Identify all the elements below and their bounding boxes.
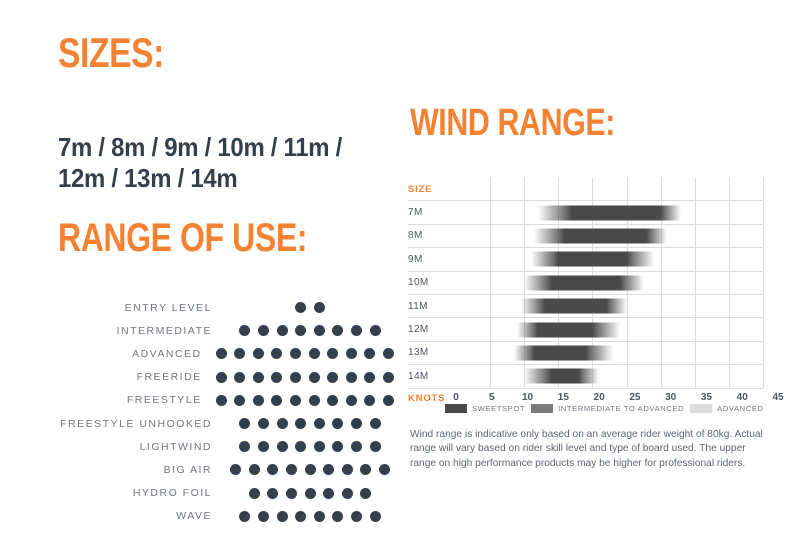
chart-gridline bbox=[627, 365, 628, 387]
range-of-use-row-label: WAVE bbox=[20, 510, 226, 522]
range-of-use-row-label: BIG AIR bbox=[20, 464, 226, 476]
chart-row-label: 9M bbox=[408, 254, 456, 265]
rating-dot bbox=[258, 511, 269, 522]
wind-range-bar bbox=[524, 275, 643, 290]
range-of-use-row-label: HYDRO FOIL bbox=[20, 487, 226, 499]
rating-dot bbox=[295, 418, 306, 429]
range-of-use-row: LIGHTWIND bbox=[20, 435, 400, 458]
chart-gridline bbox=[695, 178, 696, 200]
range-of-use-row: FREERIDE bbox=[20, 366, 400, 389]
rating-dot bbox=[346, 348, 357, 359]
rating-dot bbox=[271, 372, 282, 383]
wind-range-bar bbox=[524, 369, 599, 384]
range-of-use-row: WAVE bbox=[20, 505, 400, 528]
chart-gridline bbox=[490, 178, 491, 200]
rating-dot bbox=[332, 511, 343, 522]
rating-dot bbox=[379, 464, 390, 475]
rating-dot bbox=[332, 441, 343, 452]
wind-range-bar bbox=[517, 322, 619, 337]
rating-dot bbox=[295, 302, 306, 313]
chart-gridline bbox=[490, 342, 491, 364]
legend-label: SWEETSPOT bbox=[472, 404, 525, 413]
chart-row: 12M bbox=[408, 318, 763, 341]
chart-gridline bbox=[763, 201, 764, 223]
x-axis-tick: 25 bbox=[629, 392, 640, 403]
chart-gridline bbox=[661, 342, 662, 364]
chart-gridline bbox=[729, 272, 730, 294]
rating-dot bbox=[370, 325, 381, 336]
chart-gridline bbox=[661, 295, 662, 317]
rating-dot bbox=[351, 511, 362, 522]
rating-dot bbox=[314, 441, 325, 452]
range-of-use-row: ENTRY LEVEL bbox=[20, 296, 400, 319]
chart-row-label: 12M bbox=[408, 324, 456, 335]
chart-gridline bbox=[695, 248, 696, 270]
chart-gridline bbox=[558, 178, 559, 200]
chart-row-label: 10M bbox=[408, 277, 456, 288]
range-of-use-row-label: ADVANCED bbox=[20, 348, 216, 360]
chart-gridline bbox=[490, 248, 491, 270]
rating-dot bbox=[216, 395, 227, 406]
legend-label: ADVANCED bbox=[717, 404, 763, 413]
x-axis-tick: 35 bbox=[701, 392, 712, 403]
rating-dot bbox=[295, 325, 306, 336]
legend-swatch bbox=[445, 404, 467, 413]
rating-dot bbox=[364, 372, 375, 383]
range-of-use-row: ADVANCED bbox=[20, 342, 400, 365]
x-axis-tick: 5 bbox=[489, 392, 495, 403]
rating-dot bbox=[295, 511, 306, 522]
range-of-use-row-label: ENTRY LEVEL bbox=[20, 302, 226, 314]
rating-dot bbox=[370, 418, 381, 429]
rating-dot bbox=[234, 348, 245, 359]
wind-range-bar bbox=[534, 228, 667, 243]
left-column: SIZES: 7m / 8m / 9m / 10m / 11m / 12m / … bbox=[0, 0, 400, 544]
rating-dot bbox=[249, 464, 260, 475]
rating-dot bbox=[267, 488, 278, 499]
rating-dot bbox=[342, 488, 353, 499]
range-of-use-row-dots bbox=[216, 372, 400, 383]
chart-gridline bbox=[627, 295, 628, 317]
rating-dot bbox=[327, 348, 338, 359]
rating-dot bbox=[277, 418, 288, 429]
rating-dot bbox=[271, 348, 282, 359]
rating-dot bbox=[249, 488, 260, 499]
chart-gridline bbox=[490, 365, 491, 387]
chart-header-row: SIZE bbox=[408, 178, 763, 201]
chart-gridline bbox=[763, 272, 764, 294]
sizes-heading: SIZES: bbox=[58, 32, 164, 74]
chart-gridline bbox=[763, 365, 764, 387]
rating-dot bbox=[290, 372, 301, 383]
chart-row: 9M bbox=[408, 248, 763, 271]
chart-gridline bbox=[661, 365, 662, 387]
chart-gridline bbox=[729, 318, 730, 340]
chart-gridline bbox=[763, 225, 764, 247]
range-of-use-row-dots bbox=[226, 325, 400, 336]
range-of-use-row-dots bbox=[226, 302, 400, 313]
x-axis-tick: 0 bbox=[453, 392, 459, 403]
chart-legend: SWEETSPOTINTERMEDIATE TO ADVANCEDADVANCE… bbox=[445, 404, 795, 413]
rating-dot bbox=[239, 511, 250, 522]
x-axis-tick: 20 bbox=[594, 392, 605, 403]
range-of-use-row-label: LIGHTWIND bbox=[20, 441, 226, 453]
rating-dot bbox=[216, 372, 227, 383]
chart-row: 8M bbox=[408, 225, 763, 248]
chart-gridline bbox=[661, 318, 662, 340]
x-axis-tick: 15 bbox=[558, 392, 569, 403]
chart-row: 7M bbox=[408, 201, 763, 224]
range-of-use-row: BIG AIR bbox=[20, 458, 400, 481]
chart-gridline bbox=[763, 178, 764, 200]
x-axis-tick: 10 bbox=[522, 392, 533, 403]
rating-dot bbox=[327, 395, 338, 406]
wind-range-bar bbox=[538, 205, 681, 220]
range-of-use-row-dots bbox=[226, 488, 400, 499]
wind-range-chart: SIZE7M8M9M10M11M12M13M14M KNOTS 05101520… bbox=[408, 178, 778, 409]
chart-gridline bbox=[729, 178, 730, 200]
rating-dot bbox=[360, 488, 371, 499]
chart-gridline bbox=[729, 365, 730, 387]
size-column-header: SIZE bbox=[408, 184, 456, 195]
rating-dot bbox=[216, 348, 227, 359]
chart-gridline bbox=[524, 201, 525, 223]
rating-dot bbox=[370, 511, 381, 522]
rating-dot bbox=[314, 418, 325, 429]
chart-gridline bbox=[524, 225, 525, 247]
legend-label: INTERMEDIATE TO ADVANCED bbox=[558, 404, 684, 413]
rating-dot bbox=[314, 511, 325, 522]
rating-dot bbox=[267, 464, 278, 475]
chart-gridline bbox=[627, 178, 628, 200]
range-of-use-row-dots bbox=[226, 511, 400, 522]
rating-dot bbox=[351, 441, 362, 452]
rating-dot bbox=[258, 441, 269, 452]
chart-gridline bbox=[763, 342, 764, 364]
rating-dot bbox=[239, 418, 250, 429]
rating-dot bbox=[351, 418, 362, 429]
chart-gridline bbox=[661, 272, 662, 294]
rating-dot bbox=[309, 348, 320, 359]
rating-dot bbox=[253, 395, 264, 406]
rating-dot bbox=[332, 325, 343, 336]
rating-dot bbox=[309, 372, 320, 383]
rating-dot bbox=[383, 395, 394, 406]
chart-row-label: 8M bbox=[408, 230, 456, 241]
chart-gridline bbox=[695, 272, 696, 294]
x-axis-tick: 30 bbox=[665, 392, 676, 403]
chart-gridline bbox=[729, 201, 730, 223]
rating-dot bbox=[239, 325, 250, 336]
wind-range-bar bbox=[521, 299, 627, 314]
chart-gridline bbox=[763, 248, 764, 270]
rating-dot bbox=[258, 325, 269, 336]
rating-dot bbox=[351, 325, 362, 336]
rating-dot bbox=[253, 372, 264, 383]
chart-gridline bbox=[729, 225, 730, 247]
rating-dot bbox=[295, 441, 306, 452]
range-of-use-row-dots bbox=[226, 418, 400, 429]
chart-gridline bbox=[524, 248, 525, 270]
rating-dot bbox=[383, 348, 394, 359]
chart-gridline bbox=[490, 272, 491, 294]
range-of-use-row: FREESTYLE bbox=[20, 389, 400, 412]
range-of-use-row-dots bbox=[226, 464, 400, 475]
chart-gridline bbox=[524, 178, 525, 200]
rating-dot bbox=[314, 325, 325, 336]
chart-gridline bbox=[729, 342, 730, 364]
chart-row: 11M bbox=[408, 295, 763, 318]
chart-gridline bbox=[695, 201, 696, 223]
sizes-list: 7m / 8m / 9m / 10m / 11m / 12m / 13m / 1… bbox=[58, 132, 362, 193]
chart-gridline bbox=[592, 178, 593, 200]
chart-gridline bbox=[695, 342, 696, 364]
chart-row: 13M bbox=[408, 342, 763, 365]
wind-range-bar bbox=[514, 345, 613, 360]
chart-gridline bbox=[661, 248, 662, 270]
rating-dot bbox=[305, 488, 316, 499]
chart-gridline bbox=[763, 295, 764, 317]
rating-dot bbox=[286, 464, 297, 475]
range-of-use-matrix: ENTRY LEVELINTERMEDIATEADVANCEDFREERIDEF… bbox=[20, 296, 400, 528]
rating-dot bbox=[234, 372, 245, 383]
range-of-use-row-dots bbox=[216, 395, 400, 406]
rating-dot bbox=[258, 418, 269, 429]
chart-gridline bbox=[627, 318, 628, 340]
chart-gridline bbox=[729, 295, 730, 317]
wind-range-heading: WIND RANGE: bbox=[410, 104, 615, 142]
x-axis-tick: 45 bbox=[772, 392, 783, 403]
chart-row-label: 14M bbox=[408, 371, 456, 382]
range-of-use-row-label: FREESTYLE bbox=[20, 394, 216, 406]
rating-dot bbox=[346, 395, 357, 406]
rating-dot bbox=[346, 372, 357, 383]
legend-item: SWEETSPOT bbox=[445, 404, 525, 413]
rating-dot bbox=[305, 464, 316, 475]
wind-range-footnote: Wind range is indicative only based on a… bbox=[410, 428, 772, 471]
chart-row-label: 11M bbox=[408, 301, 456, 312]
range-of-use-row-label: FREERIDE bbox=[20, 371, 216, 383]
chart-gridline bbox=[695, 225, 696, 247]
rating-dot bbox=[253, 348, 264, 359]
x-axis-tick: 40 bbox=[737, 392, 748, 403]
range-of-use-row-dots bbox=[216, 348, 400, 359]
legend-item: INTERMEDIATE TO ADVANCED bbox=[531, 404, 684, 413]
rating-dot bbox=[234, 395, 245, 406]
chart-row-label: 13M bbox=[408, 347, 456, 358]
rating-dot bbox=[271, 395, 282, 406]
range-of-use-row: HYDRO FOIL bbox=[20, 482, 400, 505]
chart-gridline bbox=[627, 342, 628, 364]
chart-gridline bbox=[490, 318, 491, 340]
rating-dot bbox=[277, 511, 288, 522]
range-of-use-row-dots bbox=[226, 441, 400, 452]
chart-gridline bbox=[490, 225, 491, 247]
chart-gridline bbox=[490, 295, 491, 317]
rating-dot bbox=[230, 464, 241, 475]
chart-gridline bbox=[695, 295, 696, 317]
range-of-use-heading: RANGE OF USE: bbox=[58, 218, 307, 258]
chart-gridline bbox=[490, 201, 491, 223]
rating-dot bbox=[286, 488, 297, 499]
rating-dot bbox=[364, 348, 375, 359]
rating-dot bbox=[309, 395, 320, 406]
legend-swatch bbox=[690, 404, 712, 413]
range-of-use-row: FREESTYLE UNHOOKED bbox=[20, 412, 400, 435]
rating-dot bbox=[360, 464, 371, 475]
rating-dot bbox=[277, 325, 288, 336]
rating-dot bbox=[314, 302, 325, 313]
chart-gridline bbox=[661, 178, 662, 200]
rating-dot bbox=[332, 418, 343, 429]
rating-dot bbox=[342, 464, 353, 475]
rating-dot bbox=[327, 372, 338, 383]
chart-gridline bbox=[695, 365, 696, 387]
legend-swatch bbox=[531, 404, 553, 413]
right-column: WIND RANGE: SIZE7M8M9M10M11M12M13M14M KN… bbox=[400, 0, 800, 544]
rating-dot bbox=[323, 464, 334, 475]
rating-dot bbox=[239, 441, 250, 452]
chart-row: 10M bbox=[408, 272, 763, 295]
wind-range-bar bbox=[531, 252, 654, 267]
chart-gridline bbox=[695, 318, 696, 340]
range-of-use-row-label: FREESTYLE UNHOOKED bbox=[20, 418, 226, 430]
rating-dot bbox=[364, 395, 375, 406]
legend-item: ADVANCED bbox=[690, 404, 763, 413]
rating-dot bbox=[277, 441, 288, 452]
spec-sheet: SIZES: 7m / 8m / 9m / 10m / 11m / 12m / … bbox=[0, 0, 800, 544]
rating-dot bbox=[383, 372, 394, 383]
rating-dot bbox=[323, 488, 334, 499]
chart-gridline bbox=[763, 318, 764, 340]
chart-gridline bbox=[729, 248, 730, 270]
knots-axis-label: KNOTS bbox=[408, 393, 456, 404]
chart-row-label: 7M bbox=[408, 207, 456, 218]
range-of-use-row-label: INTERMEDIATE bbox=[20, 325, 226, 337]
chart-row: 14M bbox=[408, 365, 763, 388]
range-of-use-row: INTERMEDIATE bbox=[20, 319, 400, 342]
rating-dot bbox=[370, 441, 381, 452]
rating-dot bbox=[290, 395, 301, 406]
rating-dot bbox=[290, 348, 301, 359]
